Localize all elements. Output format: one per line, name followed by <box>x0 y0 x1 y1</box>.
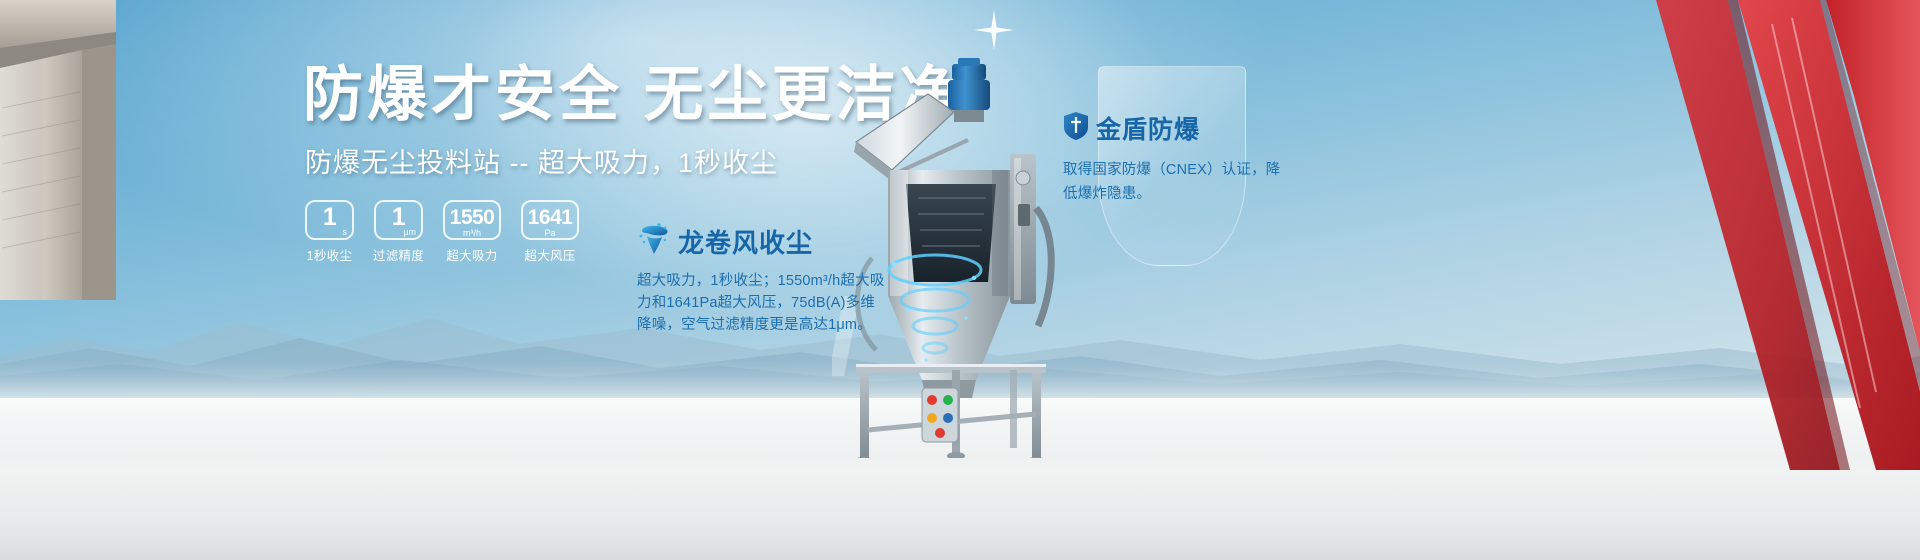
shield-icon <box>1063 111 1089 146</box>
stat-unit: μm <box>403 227 416 237</box>
stat-badge-box: 1550 m³/h <box>443 200 501 240</box>
stat-caption: 1秒收尘 <box>307 245 353 264</box>
stat-badge: 1641 Pa 超大风压 <box>521 200 579 264</box>
stat-badge: 1 μm 过滤精度 <box>374 200 423 264</box>
feature-tornado-dust-collection: 龙卷风收尘 超大吸力，1秒收尘；1550m³/h超大吸力和1641Pa超大风压，… <box>637 222 887 336</box>
stat-caption: 超大风压 <box>524 245 575 264</box>
airflow-swirl-effect <box>870 248 1000 378</box>
stat-badge-box: 1 μm <box>374 200 423 240</box>
stat-caption: 过滤精度 <box>373 245 424 264</box>
feature-title: 龙卷风收尘 <box>678 223 813 260</box>
stat-caption: 超大吸力 <box>446 245 497 264</box>
promo-banner: 防爆才安全 无尘更洁净 防爆无尘投料站 -- 超大吸力，1秒收尘 1 s 1秒收… <box>0 0 1920 560</box>
feature-description: 超大吸力，1秒收尘；1550m³/h超大吸力和1641Pa超大风压，75dB(A… <box>637 270 887 336</box>
stat-value: 1 <box>323 205 336 230</box>
stat-unit: Pa <box>544 228 555 238</box>
feature-header: 龙卷风收尘 <box>637 222 887 261</box>
stat-badge: 1550 m³/h 超大吸力 <box>443 200 501 264</box>
stat-value: 1 <box>392 205 405 230</box>
sparkle-icon <box>972 8 1016 52</box>
stat-value: 1550 <box>450 205 495 230</box>
feature-header: 金盾防爆 <box>1063 110 1293 146</box>
feature-title: 金盾防爆 <box>1096 110 1200 146</box>
feature-description: 取得国家防爆（CNEX）认证，降低爆炸隐患。 <box>1063 158 1293 206</box>
stat-unit: s <box>343 227 348 237</box>
stat-badge-box: 1 s <box>305 200 354 240</box>
stat-badge: 1 s 1秒收尘 <box>305 200 354 264</box>
red-architectural-panels <box>1320 0 1920 470</box>
stat-value: 1641 <box>528 205 573 230</box>
concrete-structure <box>0 0 250 300</box>
stat-badge-group: 1 s 1秒收尘 1 μm 过滤精度 1550 m³/h 超大吸力 1641 P… <box>305 200 579 264</box>
page-subtitle: 防爆无尘投料站 -- 超大吸力，1秒收尘 <box>305 146 778 180</box>
stat-badge-box: 1641 Pa <box>521 200 579 240</box>
feature-explosion-proof-shield: 金盾防爆 取得国家防爆（CNEX）认证，降低爆炸隐患。 <box>1063 110 1293 206</box>
tornado-icon <box>637 222 671 261</box>
stat-unit: m³/h <box>463 228 481 238</box>
